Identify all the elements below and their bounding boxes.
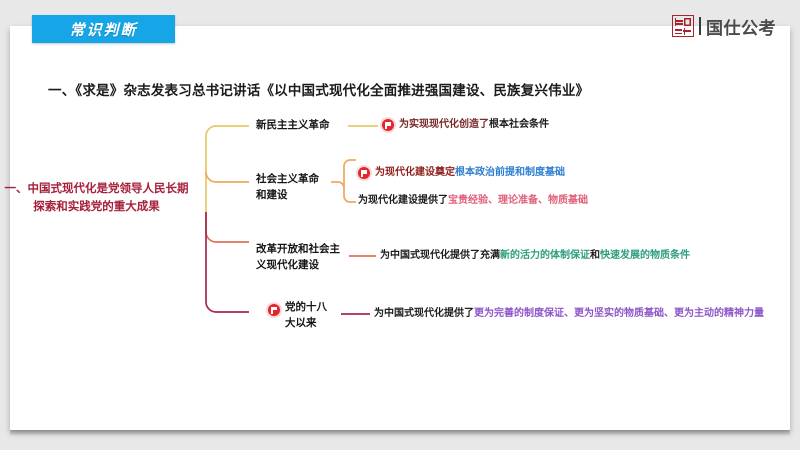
mindmap: 一、中国式现代化是党领导人民长期探索和实践党的重大成果 新民主主义革命 为实现现…	[0, 0, 780, 404]
leaf-segment: 为中国式现代化提供了充满	[380, 250, 500, 261]
leaf-segment: 根本社会条件	[489, 119, 549, 130]
leaf-segment: 为中国式现代化提供了	[374, 308, 474, 319]
mindmap-branch-label-2: 社会主义革命和建设	[256, 172, 322, 204]
mindmap-branch-4: 党的十八大以来	[268, 300, 335, 332]
leaf-segment: 新的活力的体制保证	[500, 250, 590, 261]
leaf-segment: 为现代化建设提供了	[358, 195, 448, 206]
leaf-segment: 快速发展的物质条件	[600, 250, 690, 261]
red-flag-icon	[358, 167, 370, 179]
slide-viewer: 常识判断 国仕公考 一、《求是》杂志发表习总书记讲话《以中国式现代化全面推进强国…	[0, 0, 800, 450]
mindmap-leaf-2-1: 为现代化建设奠定根本政治前提和制度基础	[358, 166, 565, 181]
mindmap-root-node: 一、中国式现代化是党领导人民长期探索和实践党的重大成果	[4, 180, 189, 216]
leaf-segment: 为现代化建设奠定	[375, 167, 455, 178]
leaf-segment: 为实现现代化创造了	[399, 119, 489, 130]
page-shadow	[10, 429, 790, 436]
leaf-segment: 宝贵经验、理论准备、物质基础	[448, 195, 588, 206]
leaf-segment: 更为完善的制度保证、更为坚实的物质基础、更为主动的精神力量	[474, 308, 764, 319]
mindmap-leaf-1-1: 为实现现代化创造了根本社会条件	[382, 118, 549, 133]
mindmap-branch-label-4: 党的十八大以来	[285, 300, 335, 332]
mindmap-leaf-4-1: 为中国式现代化提供了更为完善的制度保证、更为坚实的物质基础、更为主动的精神力量	[374, 307, 764, 322]
mindmap-branch-label-3: 改革开放和社会主义现代化建设	[256, 242, 348, 274]
leaf-segment: 和	[590, 250, 600, 261]
mindmap-leaf-3-1: 为中国式现代化提供了充满新的活力的体制保证和快速发展的物质条件	[380, 249, 690, 264]
mindmap-leaf-2-2: 为现代化建设提供了宝贵经验、理论准备、物质基础	[358, 194, 588, 209]
mindmap-branch-label-1: 新民主主义革命	[256, 118, 348, 134]
leaf-segment: 根本政治前提和制度基础	[455, 167, 565, 178]
red-flag-icon	[382, 119, 394, 131]
red-flag-icon	[268, 304, 280, 316]
